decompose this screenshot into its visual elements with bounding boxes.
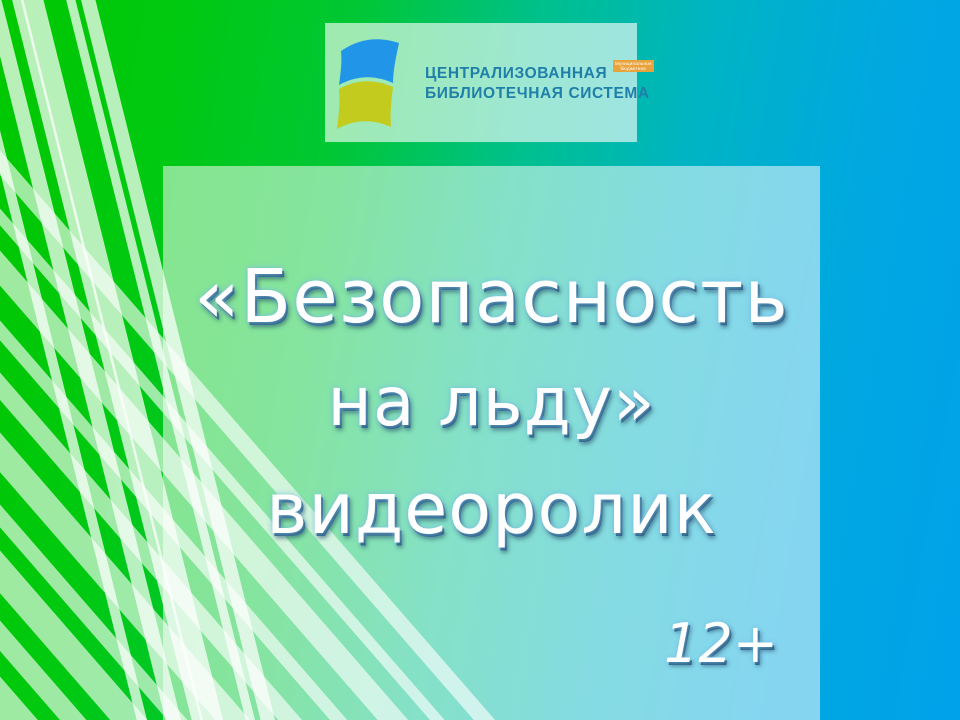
logo-text-block: ЦЕНТРАЛИЗОВАННАЯ БИБЛИОТЕЧНАЯ СИСТЕМА Му…: [425, 62, 650, 104]
title-line-1: «Безопасность: [163, 244, 820, 350]
logo-badge-line-2: бюджетное: [615, 66, 652, 71]
title-line-3: видеоролик: [163, 456, 820, 562]
age-rating-badge: 12+: [163, 612, 820, 676]
open-book-logo-icon: [335, 33, 419, 133]
library-logo-plate: ЦЕНТРАЛИЗОВАННАЯ БИБЛИОТЕЧНАЯ СИСТЕМА Му…: [325, 23, 637, 142]
logo-badge: Муниципальное бюджетное: [613, 60, 654, 73]
logo-line-2: БИБЛИОТЕЧНАЯ СИСТЕМА: [425, 84, 650, 104]
slide-title: «Безопасность на льду» видеоролик: [163, 166, 820, 562]
title-line-2: на льду»: [163, 350, 820, 456]
presentation-slide: ЦЕНТРАЛИЗОВАННАЯ БИБЛИОТЕЧНАЯ СИСТЕМА Му…: [0, 0, 960, 720]
